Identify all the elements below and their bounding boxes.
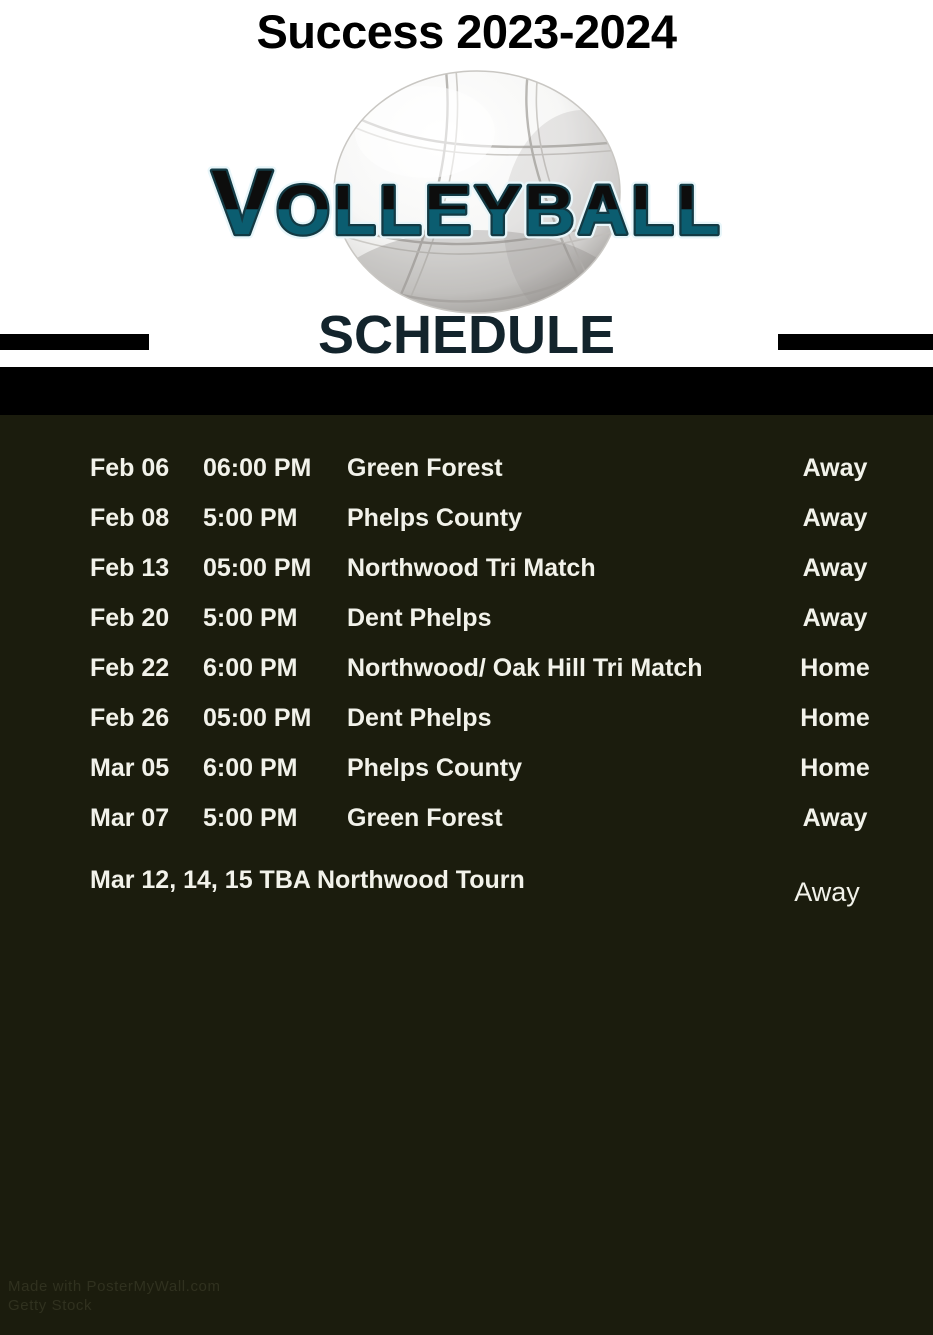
- cell-opponent: Green Forest: [347, 801, 503, 835]
- schedule-list: Feb 06 06:00 PM Green Forest Away Feb 08…: [0, 451, 933, 913]
- table-row: Mar 05 6:00 PM Phelps County Home: [0, 751, 933, 801]
- svg-text:VOLLEYBALL: VOLLEYBALL: [211, 152, 722, 254]
- watermark: Made with PosterMyWall.com Getty Stock: [8, 1277, 221, 1315]
- cell-venue: Away: [760, 451, 910, 485]
- cell-date: Mar 07: [90, 801, 169, 835]
- watermark-line-1: Made with PosterMyWall.com: [8, 1277, 221, 1296]
- cell-date: Feb 20: [90, 601, 169, 635]
- cell-opponent: Northwood Tri Match: [347, 551, 596, 585]
- cell-time: 6:00 PM: [203, 651, 297, 685]
- cell-opponent: Dent Phelps: [347, 601, 491, 635]
- cell-date: Feb 22: [90, 651, 169, 685]
- table-row: Feb 08 5:00 PM Phelps County Away: [0, 501, 933, 551]
- cell-time: 06:00 PM: [203, 451, 311, 485]
- cell-opponent: Dent Phelps: [347, 701, 491, 735]
- cell-time: 05:00 PM: [203, 551, 311, 585]
- cell-venue: Home: [760, 751, 910, 785]
- watermark-line-2: Getty Stock: [8, 1296, 221, 1315]
- accent-bar-left: [0, 334, 149, 350]
- cell-date: Feb 13: [90, 551, 169, 585]
- cell-date: Feb 08: [90, 501, 169, 535]
- cell-venue: Home: [760, 701, 910, 735]
- cell-venue: Away: [752, 875, 902, 909]
- cell-opponent: Phelps County: [347, 501, 522, 535]
- cell-time: 5:00 PM: [203, 601, 297, 635]
- cell-date: Feb 06: [90, 451, 169, 485]
- cell-time: 5:00 PM: [203, 801, 297, 835]
- cell-date: Feb 26: [90, 701, 169, 735]
- table-row: Feb 13 05:00 PM Northwood Tri Match Away: [0, 551, 933, 601]
- table-row: Mar 07 5:00 PM Green Forest Away: [0, 801, 933, 851]
- table-row: Feb 22 6:00 PM Northwood/ Oak Hill Tri M…: [0, 651, 933, 701]
- cell-time: 5:00 PM: [203, 501, 297, 535]
- cell-venue: Home: [760, 651, 910, 685]
- cell-date: Mar 05: [90, 751, 169, 785]
- cell-venue: Away: [760, 551, 910, 585]
- table-row: Feb 20 5:00 PM Dent Phelps Away: [0, 601, 933, 651]
- table-row-tournament: Mar 12, 14, 15 TBA Northwood Tourn Away: [0, 863, 933, 913]
- volleyball-wordmark: VOLLEYBALL VOLLEYBALL VOLLEYBALL: [0, 148, 933, 256]
- cell-opponent: Northwood/ Oak Hill Tri Match: [347, 651, 703, 685]
- accent-bar-right: [778, 334, 933, 350]
- page-title: Success 2023-2024: [0, 4, 933, 59]
- schedule-body: Feb 06 06:00 PM Green Forest Away Feb 08…: [0, 415, 933, 1335]
- table-row: Feb 26 05:00 PM Dent Phelps Home: [0, 701, 933, 751]
- poster-header: Success 2023-2024: [0, 0, 933, 367]
- cell-tournament-label: Mar 12, 14, 15 TBA Northwood Tourn: [90, 863, 525, 897]
- cell-opponent: Phelps County: [347, 751, 522, 785]
- cell-time: 05:00 PM: [203, 701, 311, 735]
- cell-venue: Away: [760, 501, 910, 535]
- cell-opponent: Green Forest: [347, 451, 503, 485]
- table-row: Feb 06 06:00 PM Green Forest Away: [0, 451, 933, 501]
- cell-time: 6:00 PM: [203, 751, 297, 785]
- divider-band: [0, 367, 933, 415]
- cell-venue: Away: [760, 801, 910, 835]
- poster-root: Success 2023-2024: [0, 0, 933, 1335]
- cell-venue: Away: [760, 601, 910, 635]
